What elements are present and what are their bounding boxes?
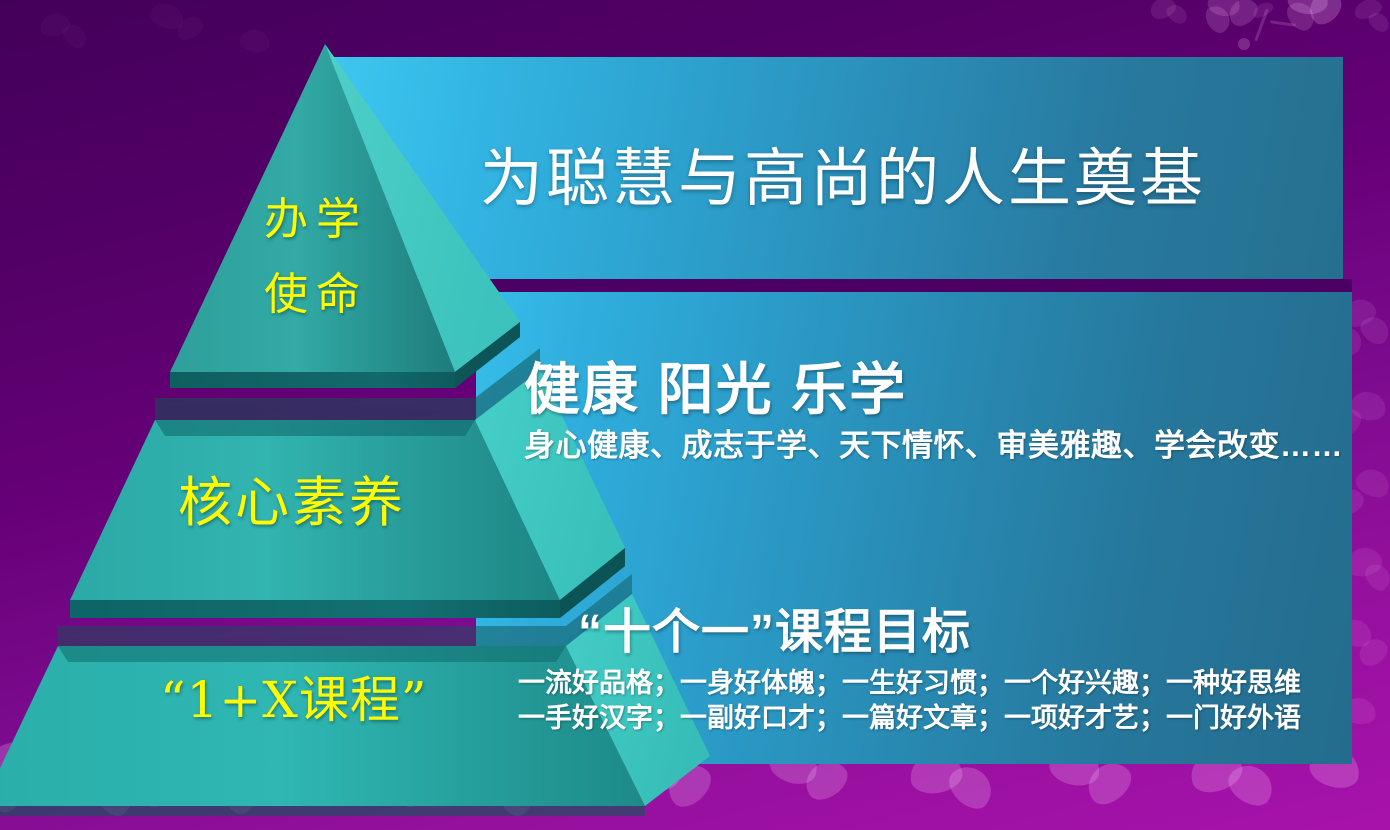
pyramid-label-mission-line2: 使命 <box>264 258 368 322</box>
slide-canvas: 办学 使命 核心素养 “1+X课程” 为聪慧与高尚的人生奠基 健康 阳光 乐学 … <box>0 0 1390 830</box>
mission-heading: 为聪慧与高尚的人生奠基 <box>480 128 1206 219</box>
pyramid-tier-curriculum-base-shadow <box>0 806 645 816</box>
curriculum-goals-heading: “十个一”课程目标 <box>578 592 971 662</box>
pyramid-label-core-literacy: 核心素养 <box>178 458 406 537</box>
core-literacy-subtitle: 身心健康、成志于学、天下情怀、审美雅趣、学会改变…… <box>524 420 1343 465</box>
core-literacy-heading: 健康 阳光 乐学 <box>524 345 907 426</box>
curriculum-goals-line1: 一流好品格；一身好体魄；一生好习惯；一个好兴趣；一种好思维 <box>518 661 1301 700</box>
curriculum-goals-line2: 一手好汉字；一副好口才；一篇好文章；一项好才艺；一门好外语 <box>518 696 1301 735</box>
pyramid-label-mission-line1: 办学 <box>264 183 368 247</box>
pyramid-tier-core-top-bevel <box>155 420 475 436</box>
pyramid-label-curriculum: “1+X课程” <box>160 660 427 732</box>
